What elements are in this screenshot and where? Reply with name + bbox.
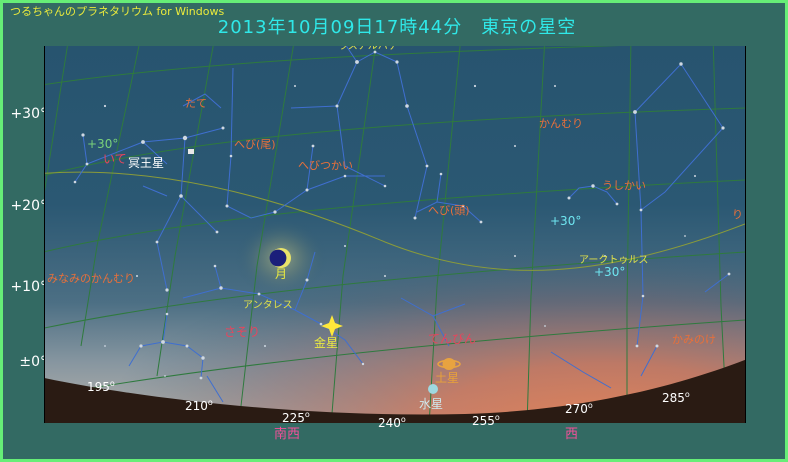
- azimuth-tick-270: 270o: [565, 399, 593, 416]
- altitude-tick-0: ±0°: [0, 355, 47, 370]
- altitude-tick-30: +30°: [0, 107, 47, 122]
- sky-map[interactable]: たて へび(尾) へびつかい へび(頭) かんむり うしかい かみのけ りょ み…: [44, 46, 746, 423]
- star-label-antares: アンタレス: [243, 300, 293, 312]
- constellation-label-tate: たて: [185, 98, 207, 110]
- mercury-marker[interactable]: [428, 384, 438, 394]
- grid-label-dec30-cyan-a: +30°: [550, 215, 581, 227]
- constellation-label-ite: いて: [103, 153, 127, 165]
- constellation-label-hebitsukai: へびつかい: [298, 160, 353, 172]
- compass-label-southwest: 南西: [274, 428, 300, 442]
- constellation-label-hebi-atama: へび(頭): [428, 205, 470, 217]
- planet-label-moon: 月: [275, 268, 287, 280]
- azimuth-tick-240: 240o: [378, 413, 406, 430]
- altitude-tick-20: +20°: [0, 199, 47, 214]
- azimuth-tick-225: 225o: [282, 408, 310, 425]
- azimuth-tick-255: 255o: [472, 411, 500, 428]
- compass-label-west: 西: [565, 428, 578, 442]
- grid-label-dec30-green: +30°: [87, 138, 118, 150]
- grid-label-dec30-cyan-b: +30°: [594, 266, 625, 278]
- constellation-label-hebi-o: へび(尾): [234, 139, 276, 151]
- chart-title: 2013年10月09日17時44分 東京の星空: [3, 18, 788, 38]
- altitude-tick-10: +10°: [0, 280, 47, 295]
- sky-canvas: [45, 46, 745, 423]
- constellation-label-sasori: さそり: [224, 326, 260, 338]
- constellation-label-kaminoke: かみのけ: [672, 334, 716, 346]
- planet-label-saturn: 土星: [435, 372, 459, 384]
- constellation-label-tenbin: てんびん: [428, 333, 476, 345]
- constellation-label-minaminokanmuri: みなみのかんむり: [47, 273, 135, 285]
- constellation-label-kanmuri: かんむり: [539, 118, 583, 130]
- planetarium-window: つるちゃんのプラネタリウム for Windows 2013年10月09日17時…: [0, 0, 788, 462]
- planet-label-venus: 金星: [314, 337, 338, 349]
- constellation-label-ryo: りょ: [732, 209, 746, 221]
- azimuth-tick-285: 285o: [662, 388, 690, 405]
- azimuth-tick-210: 210o: [185, 396, 213, 413]
- planet-label-mercury: 水星: [419, 398, 443, 410]
- app-title: つるちゃんのプラネタリウム for Windows: [10, 6, 224, 18]
- pluto-marker[interactable]: [188, 149, 194, 154]
- planet-label-pluto: 冥王星: [128, 157, 164, 169]
- constellation-label-ushikai: うしかい: [602, 180, 646, 192]
- azimuth-tick-195: 195o: [87, 377, 115, 394]
- star-label-rasalhague: ラスアルハゲ: [338, 46, 398, 53]
